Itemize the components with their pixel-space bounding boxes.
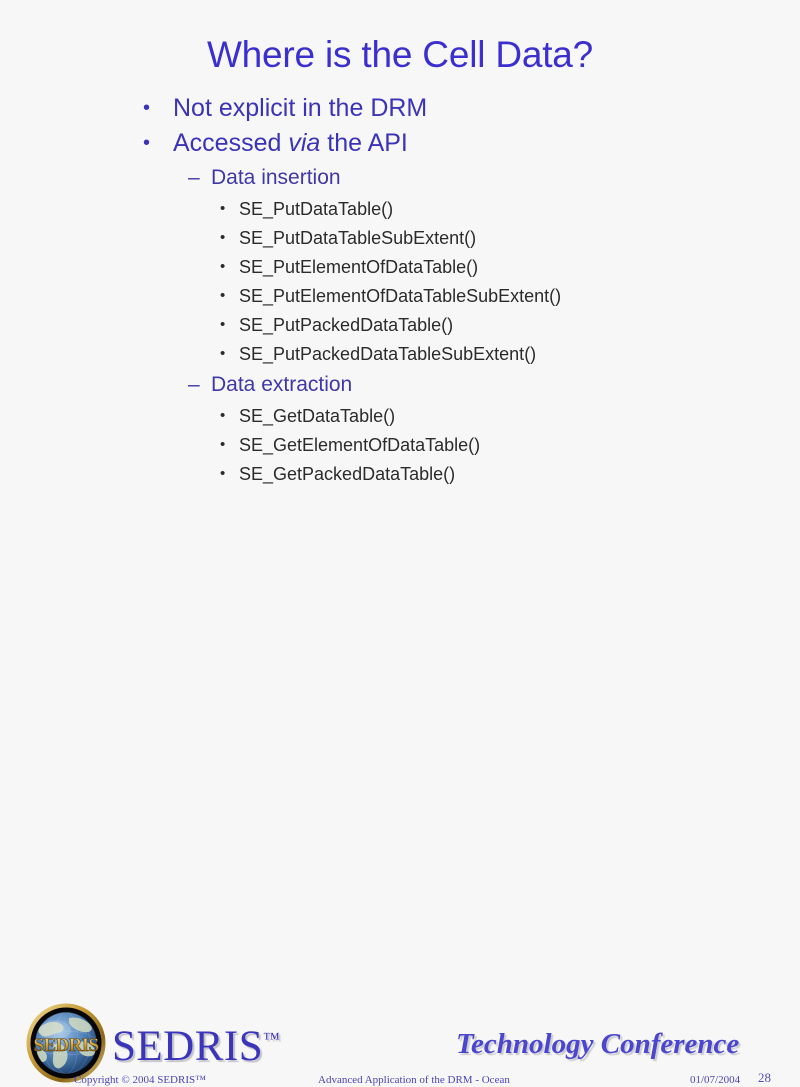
bullet-item-level1: • Not explicit in the DRM (0, 92, 800, 127)
bullet-item-level3: • SE_GetPackedDataTable() (0, 460, 800, 489)
bullet-marker-dot: • (220, 195, 239, 223)
bullet-marker-dot: • (143, 127, 173, 160)
slide-footer: SEDRIS SEDRIS™ Technology Conference Cop… (0, 496, 800, 600)
bullet-item-level3: • SE_GetDataTable() (0, 402, 800, 431)
bullet-text: Data extraction (211, 369, 352, 400)
sedris-wordmark: SEDRIS™ (112, 1015, 280, 1070)
bullet-text: SE_PutDataTable() (239, 195, 393, 223)
bullet-marker-dash: – (188, 369, 211, 400)
bullet-text: SE_PutElementOfDataTableSubExtent() (239, 282, 561, 310)
bullet-text-pre: Accessed (173, 129, 288, 157)
bullet-text: SE_PutPackedDataTable() (239, 311, 453, 339)
bullet-text: SE_GetDataTable() (239, 402, 395, 430)
bullet-item-level2: – Data extraction (0, 369, 800, 402)
bullet-item-level3: • SE_PutDataTableSubExtent() (0, 224, 800, 253)
bullet-marker-dot: • (220, 224, 239, 252)
bullet-item-level3: • SE_PutPackedDataTableSubExtent() (0, 340, 800, 369)
sedris-wordmark-text: SEDRIS (112, 1023, 263, 1070)
bullet-marker-dot: • (220, 431, 239, 459)
bullet-marker-dot: • (220, 253, 239, 281)
bullet-item-level3: • SE_PutElementOfDataTableSubExtent() (0, 282, 800, 311)
slide-number: 28 (758, 1071, 771, 1085)
bullet-marker-dash: – (188, 162, 211, 193)
bullet-item-level1: • Accessed via the API (0, 127, 800, 162)
bullet-item-level3: • SE_PutDataTable() (0, 195, 800, 224)
bullet-marker-dot: • (220, 460, 239, 488)
bullet-marker-dot: • (220, 282, 239, 310)
sedris-globe-logo-icon: SEDRIS (25, 1002, 107, 1084)
bullet-text-emphasis: via (288, 129, 320, 157)
bullet-marker-dot: • (220, 311, 239, 339)
document-title-footer: Advanced Application of the DRM - Ocean (318, 1073, 510, 1087)
copyright-notice: Copyright © 2004 SEDRIS™ (74, 1073, 206, 1087)
bullet-text: SE_PutDataTableSubExtent() (239, 224, 476, 252)
bullet-text: SE_PutElementOfDataTable() (239, 253, 478, 281)
presentation-date: 01/07/2004 (690, 1073, 740, 1087)
trademark-symbol: ™ (263, 1029, 280, 1048)
slide-canvas: Where is the Cell Data? • Not explicit i… (0, 0, 800, 600)
bullet-item-level3: • SE_GetElementOfDataTable() (0, 431, 800, 460)
bullet-marker-dot: • (143, 92, 173, 125)
bullet-item-level3: • SE_PutElementOfDataTable() (0, 253, 800, 282)
slide-title: Where is the Cell Data? (0, 33, 800, 77)
bullet-marker-dot: • (220, 340, 239, 368)
bullet-text: SE_PutPackedDataTableSubExtent() (239, 340, 536, 368)
bullet-text: SE_GetPackedDataTable() (239, 460, 455, 488)
bullet-text-post: the API (320, 129, 408, 157)
bullet-text: Accessed via the API (173, 127, 408, 160)
slide-body: • Not explicit in the DRM • Accessed via… (0, 92, 800, 489)
bullet-text: Data insertion (211, 162, 341, 193)
logo-sedris-text: SEDRIS (33, 1035, 98, 1056)
bullet-text: Not explicit in the DRM (173, 92, 427, 125)
bullet-item-level2: – Data insertion (0, 162, 800, 195)
bullet-text: SE_GetElementOfDataTable() (239, 431, 480, 459)
bullet-marker-dot: • (220, 402, 239, 430)
bullet-item-level3: • SE_PutPackedDataTable() (0, 311, 800, 340)
technology-conference-label: Technology Conference (456, 1027, 739, 1061)
